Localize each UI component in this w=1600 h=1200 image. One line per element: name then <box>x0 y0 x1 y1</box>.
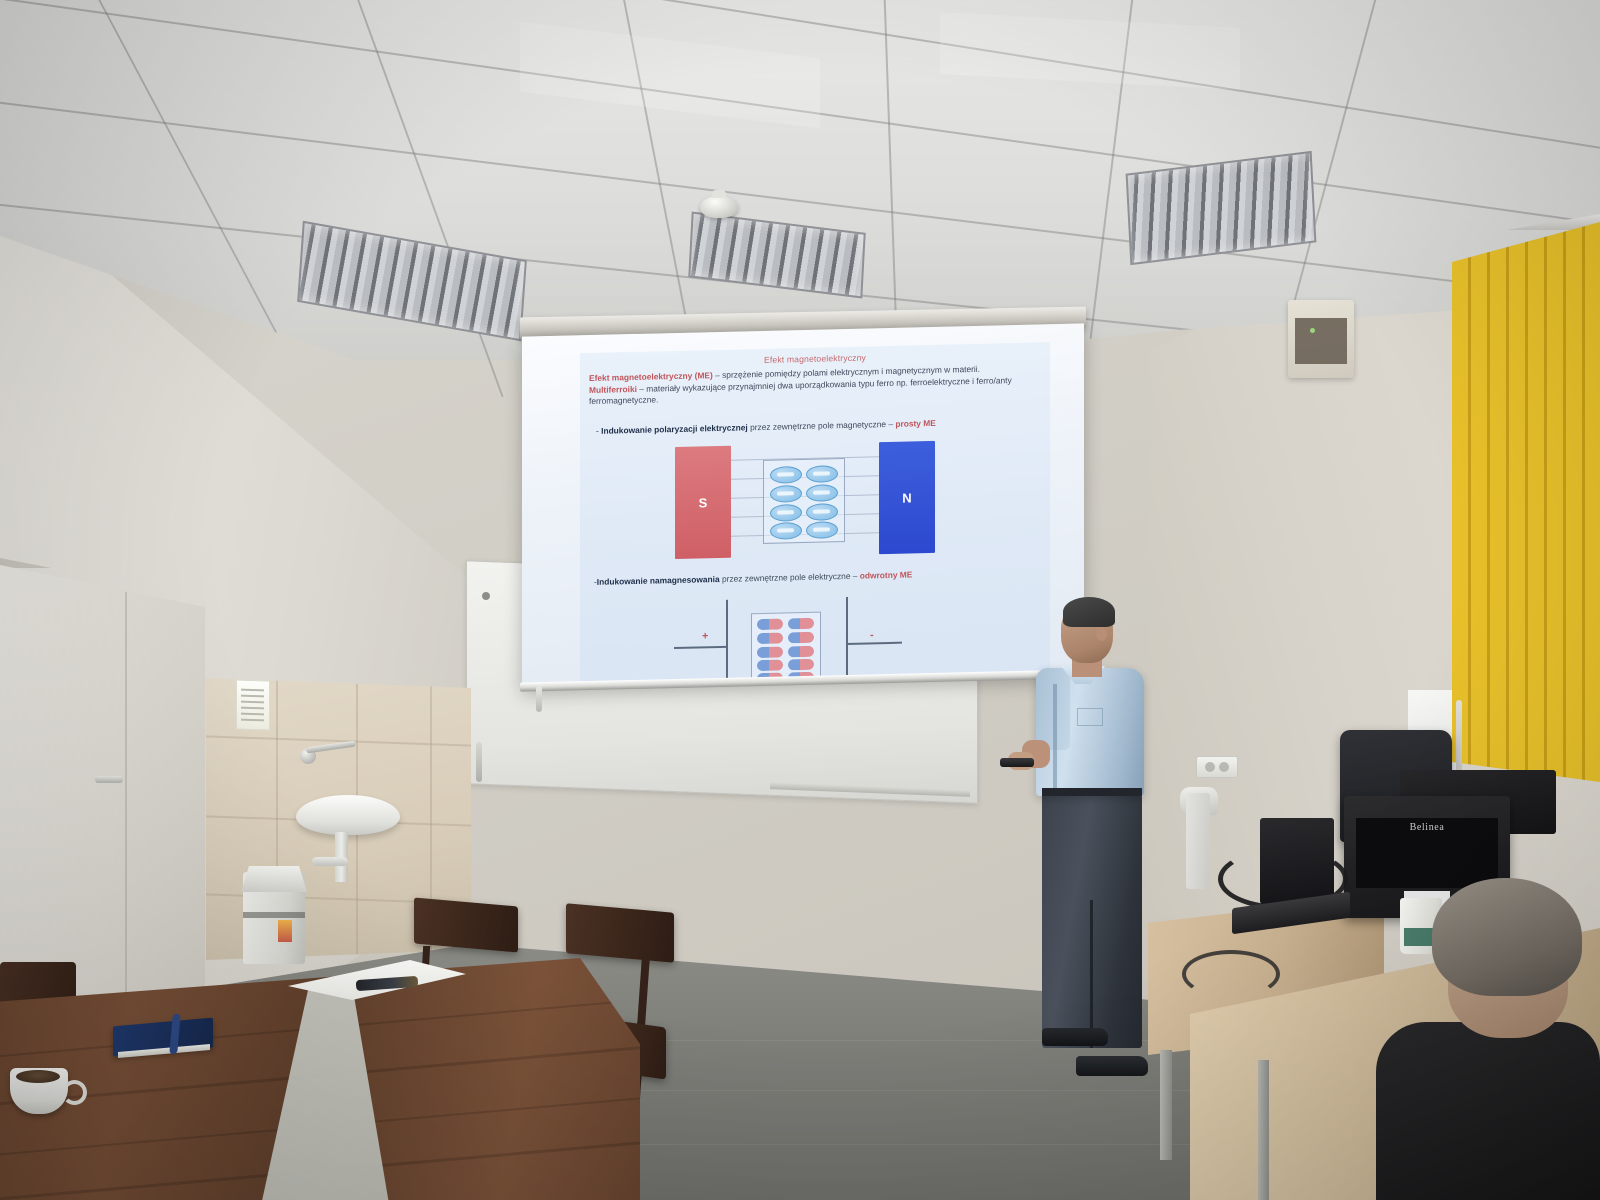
slide-para2-bold: Multiferroiki <box>589 384 637 395</box>
north-pole-magnet: N <box>879 441 935 554</box>
presenter-shoe <box>1076 1056 1148 1076</box>
panel-led-icon <box>1310 328 1315 333</box>
minus-sign-label: - <box>870 629 874 641</box>
bullet-1-mid: przez zewnętrzne pole magnetyczne – <box>748 419 896 432</box>
capacitor-plate-positive <box>726 600 728 689</box>
projection-screen-pull[interactable] <box>536 686 542 712</box>
waste-bin-band <box>243 912 305 918</box>
panel-window <box>1295 318 1347 364</box>
suspended-ceiling <box>0 0 1600 360</box>
plus-sign-label: + <box>702 630 708 642</box>
slide-para1-bold: Efekt magnetoelektryczny (ME) <box>589 370 713 383</box>
capacitor-lead-negative <box>846 642 902 645</box>
capacitor-lead-positive <box>674 646 726 649</box>
double-door[interactable] <box>0 565 208 1020</box>
waste-bin-lid[interactable] <box>241 866 307 892</box>
desk-leg <box>1160 1050 1172 1160</box>
wall-socket[interactable] <box>1196 756 1238 778</box>
desk-leg <box>1258 1060 1269 1200</box>
presenter-hair <box>1063 597 1115 627</box>
wall-notice-sheet <box>236 679 270 730</box>
magnet-dipole-diagram: S N <box>675 441 935 559</box>
north-pole-label: N <box>902 490 911 505</box>
smoke-detector-icon <box>700 196 738 218</box>
coffee-cup-handle <box>62 1080 87 1105</box>
presenter-leg-split <box>1090 900 1093 1048</box>
dipole-grid-magnetic <box>763 458 845 544</box>
door-split-line <box>125 592 127 1020</box>
wooden-chair[interactable] <box>414 897 518 952</box>
whiteboard-mount-knob <box>482 592 490 600</box>
door-handle[interactable] <box>95 776 123 783</box>
bullet-1-accent: prosty ME <box>895 418 936 429</box>
slide-body: Efekt magnetoelektryczny (ME) – sprzężen… <box>589 362 1041 407</box>
attendee-body <box>1376 1022 1600 1200</box>
slide-bullet-2: -Indukowanie namagnesowania przez zewnęt… <box>594 569 912 587</box>
vertical-blinds[interactable] <box>1452 222 1600 782</box>
cable-loop <box>1182 950 1280 998</box>
projection-screen: Efekt magnetoelektryczny Efekt magnetoel… <box>522 323 1084 688</box>
attendee-hair <box>1432 878 1582 996</box>
bullet-1-bold: Indukowanie polaryzacji elektrycznej <box>601 422 748 435</box>
presenter-belt <box>1042 788 1142 796</box>
presentation-remote[interactable] <box>1000 758 1034 767</box>
document-camera[interactable] <box>1186 793 1210 889</box>
presenter-shoe <box>1042 1028 1108 1046</box>
waste-bin-sticker <box>278 920 292 942</box>
presenter-shirt-placket <box>1053 684 1057 788</box>
wall-sink <box>296 795 400 835</box>
bullet-2-accent: odwrotny ME <box>860 569 913 580</box>
lecture-room-photo: Efekt magnetoelektryczny Efekt magnetoel… <box>0 0 1600 1200</box>
presentation-slide: Efekt magnetoelektryczny Efekt magnetoel… <box>580 342 1050 688</box>
monitor-front-brand-label: Belinea <box>1344 822 1510 833</box>
bullet-2-bold: Indukowanie namagnesowania <box>597 574 720 587</box>
slide-bullet-1: - Indukowanie polaryzacji elektrycznej p… <box>596 418 936 436</box>
presenter-ear <box>1096 627 1107 641</box>
whiteboard-marker[interactable] <box>476 742 482 782</box>
presenter-shirt-pocket <box>1077 708 1103 726</box>
south-pole-magnet: S <box>675 446 731 559</box>
wall-control-panel[interactable] <box>1288 300 1354 378</box>
coffee-cup-liquid <box>16 1070 60 1083</box>
wooden-chair[interactable] <box>566 903 674 962</box>
bullet-2-mid: przez zewnętrzne pole elektryczne – <box>720 571 860 584</box>
south-pole-label: S <box>699 495 708 510</box>
sink-trap <box>312 857 348 866</box>
